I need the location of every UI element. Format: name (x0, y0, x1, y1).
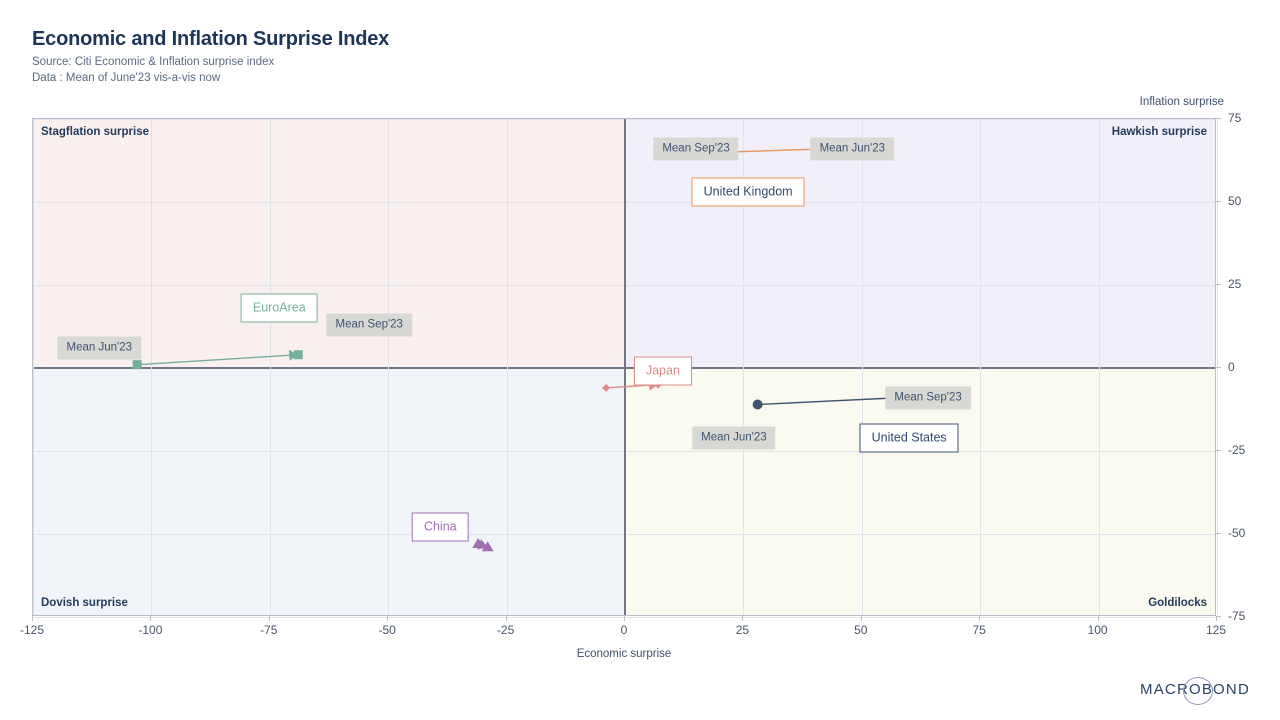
x-tick (32, 616, 33, 621)
x-tick-label: 50 (854, 623, 867, 637)
x-tick (150, 616, 151, 621)
y-tick-label: 75 (1228, 111, 1241, 125)
plot-area: Stagflation surprise Hawkish surprise Do… (32, 118, 1216, 616)
source-line: Source: Citi Economic & Inflation surpri… (32, 55, 932, 71)
datapoint-start-euroarea[interactable] (133, 360, 142, 369)
series-label-euroarea[interactable]: EuroArea (241, 294, 318, 323)
y-tick-label: 0 (1228, 360, 1235, 374)
value-box-start: Mean Jun'23 (811, 137, 895, 160)
series-label-china[interactable]: China (412, 513, 469, 542)
x-tick-label: 0 (621, 623, 628, 637)
page-title: Economic and Inflation Surprise Index (32, 28, 932, 50)
series-label-japan[interactable]: Japan (634, 357, 692, 386)
x-tick (861, 616, 862, 621)
x-tick (506, 616, 507, 621)
value-box-end: Mean Sep'23 (327, 313, 412, 336)
series-line-euroarea (137, 355, 298, 365)
y-axis: -75-50-250255075 (1216, 118, 1276, 616)
x-axis-title: Economic surprise (32, 648, 1216, 660)
y-tick (1216, 616, 1221, 617)
chart-header: Economic and Inflation Surprise Index So… (32, 28, 932, 87)
datapoint-start-united-states[interactable] (753, 400, 763, 410)
series-label-united-states[interactable]: United States (860, 423, 959, 452)
macrobond-wordmark: MACROBOND (1140, 681, 1250, 698)
series-line-united-states (758, 398, 895, 405)
y-tick (1216, 367, 1221, 368)
x-tick-label: -25 (497, 623, 514, 637)
value-box-end: Mean Sep'23 (653, 137, 738, 160)
series-label-united-kingdom[interactable]: United Kingdom (692, 178, 805, 207)
macrobond-ring-icon (1183, 677, 1213, 705)
x-tick-label: 75 (973, 623, 986, 637)
series-line-united-kingdom (724, 149, 823, 152)
datapoint-start-japan[interactable] (602, 384, 610, 392)
x-tick (387, 616, 388, 621)
x-axis: -125-100-75-50-250255075100125 (32, 616, 1216, 646)
macrobond-logo: MACROBOND (1140, 681, 1250, 698)
y-tick-label: -25 (1228, 443, 1245, 457)
y-tick (1216, 284, 1221, 285)
x-tick (742, 616, 743, 621)
x-tick-label: 100 (1088, 623, 1108, 637)
y-tick (1216, 450, 1221, 451)
x-tick-label: -125 (20, 623, 44, 637)
x-tick (624, 616, 625, 621)
y-tick-label: -50 (1228, 526, 1245, 540)
y-tick (1216, 201, 1221, 202)
x-tick-label: -50 (379, 623, 396, 637)
value-box-end: Mean Sep'23 (885, 386, 970, 409)
x-tick-label: 25 (736, 623, 749, 637)
y-tick (1216, 118, 1221, 119)
x-tick-label: 125 (1206, 623, 1226, 637)
series-overlay (33, 119, 1217, 617)
y-axis-title: Inflation surprise (1140, 96, 1224, 108)
x-tick (1098, 616, 1099, 621)
data-line: Data : Mean of June'23 vis-a-vis now (32, 71, 932, 87)
y-tick-label: 25 (1228, 277, 1241, 291)
datapoint-end-euroarea[interactable] (294, 350, 303, 359)
y-tick (1216, 533, 1221, 534)
x-tick-label: -100 (138, 623, 162, 637)
x-tick (979, 616, 980, 621)
x-tick (269, 616, 270, 621)
value-box-start: Mean Jun'23 (58, 337, 142, 360)
x-tick-label: -75 (260, 623, 277, 637)
y-tick-label: -75 (1228, 609, 1245, 623)
y-tick-label: 50 (1228, 194, 1241, 208)
value-box-start: Mean Jun'23 (692, 426, 776, 449)
